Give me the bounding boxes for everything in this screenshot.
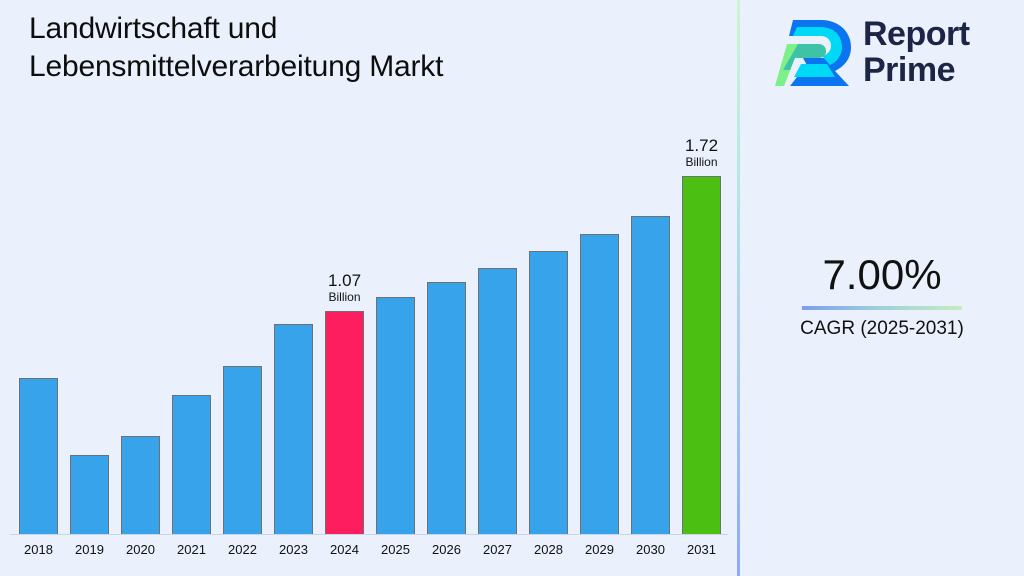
bar-2021[interactable] [172,395,211,534]
bar-2031[interactable] [682,176,721,534]
brand-name: Report Prime [863,16,970,88]
report-prime-logo-mark-icon [775,14,853,90]
bar-chart-plot: 1.07Billion1.72Billion 20182019202020212… [0,0,738,576]
bar-value-label-2024: 1.07Billion [300,271,390,305]
x-tick-2031: 2031 [676,542,727,557]
brand-logo[interactable]: Report Prime [775,12,1010,92]
bar-value-unit: Billion [657,155,747,170]
bar-2020[interactable] [121,436,160,534]
cagr-value: 7.00% [740,250,1024,300]
bar-value-amount: 1.07 [300,271,390,290]
x-tick-2023: 2023 [268,542,319,557]
x-tick-2022: 2022 [217,542,268,557]
bar-2022[interactable] [223,366,262,534]
cagr-divider [802,306,962,310]
x-tick-2027: 2027 [472,542,523,557]
x-tick-2028: 2028 [523,542,574,557]
bar-2029[interactable] [580,234,619,534]
cagr-block: 7.00% CAGR (2025-2031) [740,250,1024,342]
bar-2028[interactable] [529,251,568,534]
x-tick-2026: 2026 [421,542,472,557]
bar-2030[interactable] [631,216,670,534]
bar-2027[interactable] [478,268,517,534]
x-tick-2019: 2019 [64,542,115,557]
bar-value-label-2031: 1.72Billion [657,136,747,170]
x-tick-2021: 2021 [166,542,217,557]
bar-value-unit: Billion [300,290,390,305]
bar-2019[interactable] [70,455,109,534]
x-tick-2025: 2025 [370,542,421,557]
bar-2026[interactable] [427,282,466,534]
x-tick-2024: 2024 [319,542,370,557]
chart-panel: Landwirtschaft und Lebensmittelverarbeit… [0,0,738,576]
x-tick-2020: 2020 [115,542,166,557]
bar-2018[interactable] [19,378,58,534]
x-tick-2018: 2018 [13,542,64,557]
x-tick-2029: 2029 [574,542,625,557]
info-panel: Report Prime 7.00% CAGR (2025-2031) [740,0,1024,576]
bar-2024[interactable] [325,311,364,534]
cagr-label: CAGR (2025-2031) [740,316,1024,342]
x-axis-line [10,534,728,535]
bar-2025[interactable] [376,297,415,534]
bar-2023[interactable] [274,324,313,534]
x-tick-2030: 2030 [625,542,676,557]
bar-value-amount: 1.72 [657,136,747,155]
